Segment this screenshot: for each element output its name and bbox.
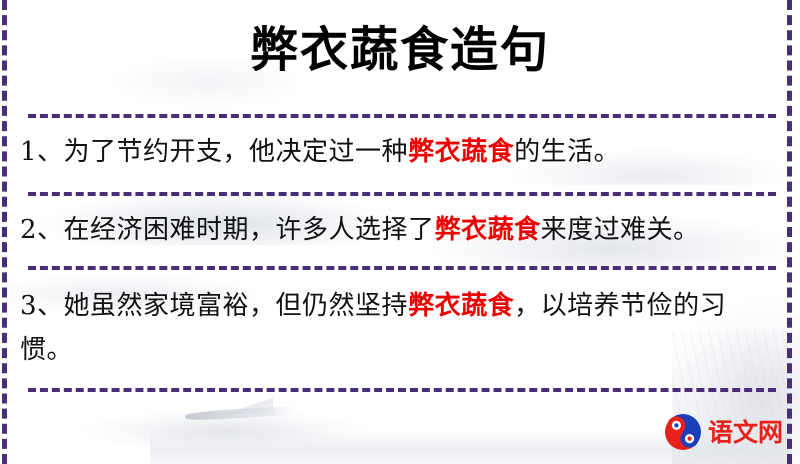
sentence-index-2: 2、	[20, 215, 64, 245]
divider-bottom	[28, 388, 776, 392]
page-border-left	[2, 0, 7, 464]
sentence-text-after-1: 的生活。	[514, 137, 620, 167]
divider-1-2	[28, 192, 776, 196]
yin-yang-circle-icon	[664, 413, 702, 451]
sentence-item-2: 2、在经济困难时期，许多人选择了弊衣蔬食来度过难关。	[20, 208, 778, 252]
sentence-text-before-2: 在经济困难时期，许多人选择了	[64, 215, 435, 245]
page-border-right	[787, 0, 792, 464]
page-content: 弊衣蔬食造句 1、为了节约开支，他决定过一种弊衣蔬食的生活。 2、在经济困难时期…	[0, 0, 800, 464]
sentence-item-1: 1、为了节约开支，他决定过一种弊衣蔬食的生活。	[20, 130, 778, 174]
sentence-text-before-3: 她虽然家境富裕，但仍然坚持	[64, 291, 409, 321]
page-root: 弊衣蔬食造句 1、为了节约开支，他决定过一种弊衣蔬食的生活。 2、在经济困难时期…	[0, 0, 800, 464]
sentence-item-3: 3、她虽然家境富裕，但仍然坚持弊衣蔬食，以培养节俭的习惯。	[20, 284, 778, 372]
sentence-text-before-1: 为了节约开支，他决定过一种	[64, 137, 409, 167]
idiom-highlight-3: 弊衣蔬食	[408, 291, 514, 321]
site-logo[interactable]: 语文网	[664, 410, 786, 454]
idiom-highlight-1: 弊衣蔬食	[408, 137, 514, 167]
divider-2-3	[28, 266, 776, 270]
site-logo-text: 语文网	[708, 420, 783, 445]
page-title: 弊衣蔬食造句	[0, 20, 800, 80]
sentence-text-after-2: 来度过难关。	[541, 215, 700, 245]
idiom-highlight-2: 弊衣蔬食	[435, 215, 541, 245]
sentence-index-3: 3、	[20, 291, 64, 321]
divider-top	[28, 114, 776, 118]
sentence-index-1: 1、	[20, 137, 64, 167]
